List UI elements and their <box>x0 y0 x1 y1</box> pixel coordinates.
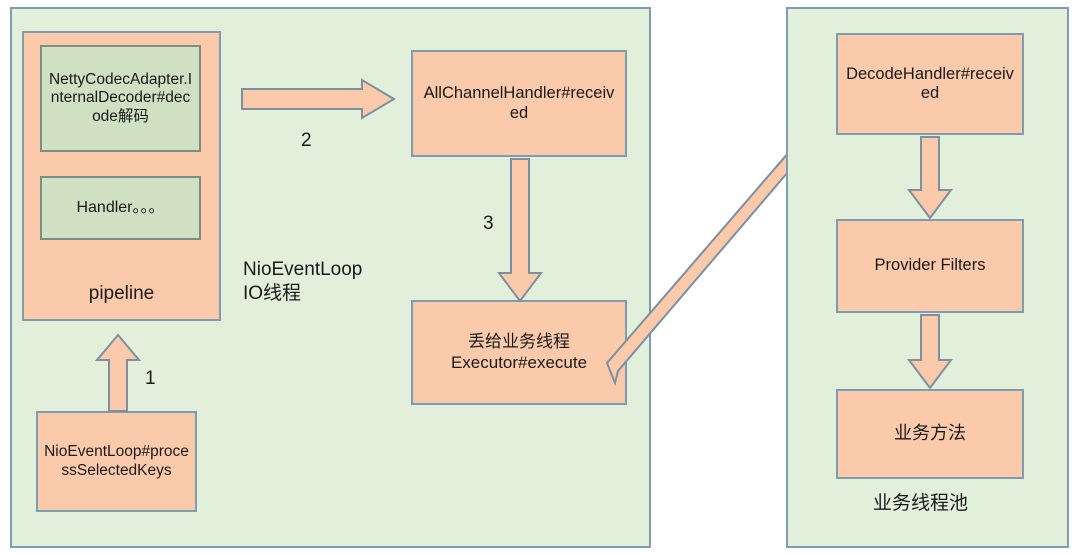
step-number-3: 3 <box>483 213 494 235</box>
box-business-method[interactable]: 业务方法 <box>836 389 1024 479</box>
box-executor-execute[interactable]: 丢给业务线程 Executor#execute <box>411 300 627 405</box>
box-label: 丢给业务线程 Executor#execute <box>419 332 619 372</box>
handler-box-netty-codec-adapter[interactable]: NettyCodecAdapter.InternalDecoder#decode… <box>40 45 201 152</box>
handler-box-generic[interactable]: Handler。。。 <box>40 176 201 240</box>
box-label: AllChannelHandler#received <box>421 84 617 123</box>
box-nioeventloop-processselectedkeys[interactable]: NioEventLoop#processSelectedKeys <box>36 411 197 512</box>
business-thread-pool-caption: 业务线程池 <box>873 492 968 516</box>
handler-box-label: Handler。。。 <box>48 199 193 218</box>
box-label: Provider Filters <box>846 256 1014 275</box>
step-number-2: 2 <box>301 130 312 152</box>
handler-box-label: NettyCodecAdapter.InternalDecoder#decode… <box>48 71 193 126</box>
box-label: 业务方法 <box>846 423 1014 444</box>
nioeventloop-io-thread-label: NioEventLoop IO线程 <box>243 258 362 306</box>
box-provider-filters[interactable]: Provider Filters <box>836 219 1024 313</box>
box-label: DecodeHandler#received <box>846 65 1014 104</box>
diagram-canvas: pipeline NettyCodecAdapter.InternalDecod… <box>0 0 1080 555</box>
pipeline-caption: pipeline <box>24 283 219 305</box>
step-number-1: 1 <box>145 368 156 390</box>
box-decodehandler-received[interactable]: DecodeHandler#received <box>836 33 1024 135</box>
box-allchannelhandler-received[interactable]: AllChannelHandler#received <box>411 50 627 157</box>
box-label: NioEventLoop#processSelectedKeys <box>43 443 190 480</box>
